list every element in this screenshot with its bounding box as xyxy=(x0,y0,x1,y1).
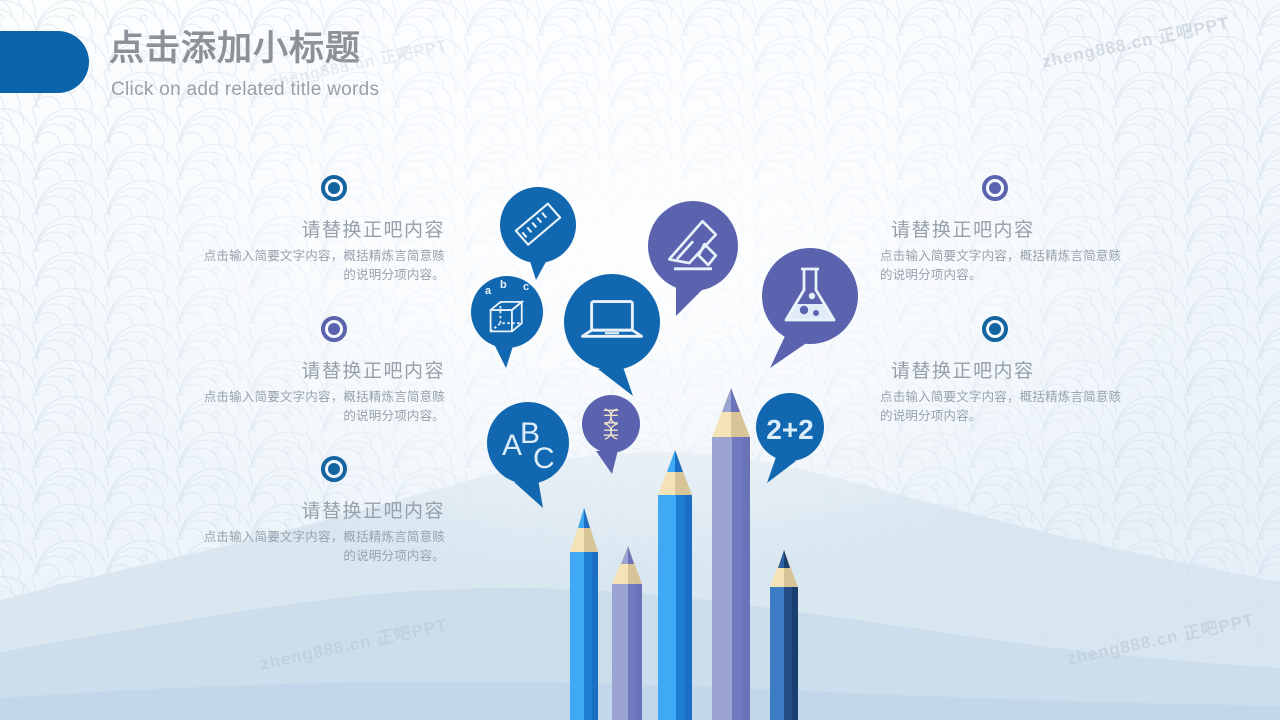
slide-canvas: 点击添加小标题 Click on add related title words… xyxy=(0,0,1280,720)
pencil-3 xyxy=(658,450,692,720)
bubble-design[interactable] xyxy=(648,201,738,316)
feature-body: 点击输入简要文字内容，概括精炼言简意赅的说明分项内容。 xyxy=(195,528,445,567)
education-illustration: a b c xyxy=(440,150,900,720)
bubble-abc[interactable]: A B C xyxy=(487,402,569,508)
cube-label-a: a xyxy=(485,285,492,297)
bubble-cube[interactable]: a b c xyxy=(471,276,543,368)
feature-body: 点击输入简要文字内容，概括精炼言简意赅的说明分项内容。 xyxy=(195,388,445,427)
bubble-flask[interactable] xyxy=(762,248,858,368)
abc-letter-c: C xyxy=(533,442,555,475)
target-dot-icon xyxy=(982,316,1008,342)
cube-label-c: c xyxy=(523,281,529,293)
page-subtitle: Click on add related title words xyxy=(111,79,379,101)
pencil-1 xyxy=(570,508,598,720)
bubble-laptop[interactable] xyxy=(564,274,660,396)
math-expression: 2+2 xyxy=(766,414,814,445)
bubble-dna[interactable] xyxy=(582,395,640,474)
target-dot-icon xyxy=(321,175,347,201)
cube-label-b: b xyxy=(500,279,507,291)
feature-heading: 请替换正吧内容 xyxy=(301,496,445,523)
feature-heading: 请替换正吧内容 xyxy=(301,215,445,242)
feature-heading: 请替换正吧内容 xyxy=(891,356,1035,383)
pencil-5 xyxy=(770,550,798,720)
title-accent-pill xyxy=(0,31,89,93)
abc-letter-a: A xyxy=(502,429,522,462)
feature-body: 点击输入简要文字内容，概括精炼言简意赅的说明分项内容。 xyxy=(195,247,445,286)
target-dot-icon xyxy=(321,456,347,482)
pencil-2 xyxy=(612,546,642,720)
bubble-math[interactable]: 2+2 xyxy=(756,393,824,483)
feature-body: 点击输入简要文字内容，概括精炼言简意赅的说明分项内容。 xyxy=(880,247,1130,286)
target-dot-icon xyxy=(982,175,1008,201)
target-dot-icon xyxy=(321,316,347,342)
pencil-4 xyxy=(712,388,750,720)
feature-heading: 请替换正吧内容 xyxy=(301,356,445,383)
feature-heading: 请替换正吧内容 xyxy=(891,215,1035,242)
bubble-ruler[interactable] xyxy=(500,187,576,280)
page-title: 点击添加小标题 xyxy=(109,29,361,69)
feature-body: 点击输入简要文字内容，概括精炼言简意赅的说明分项内容。 xyxy=(880,388,1130,427)
